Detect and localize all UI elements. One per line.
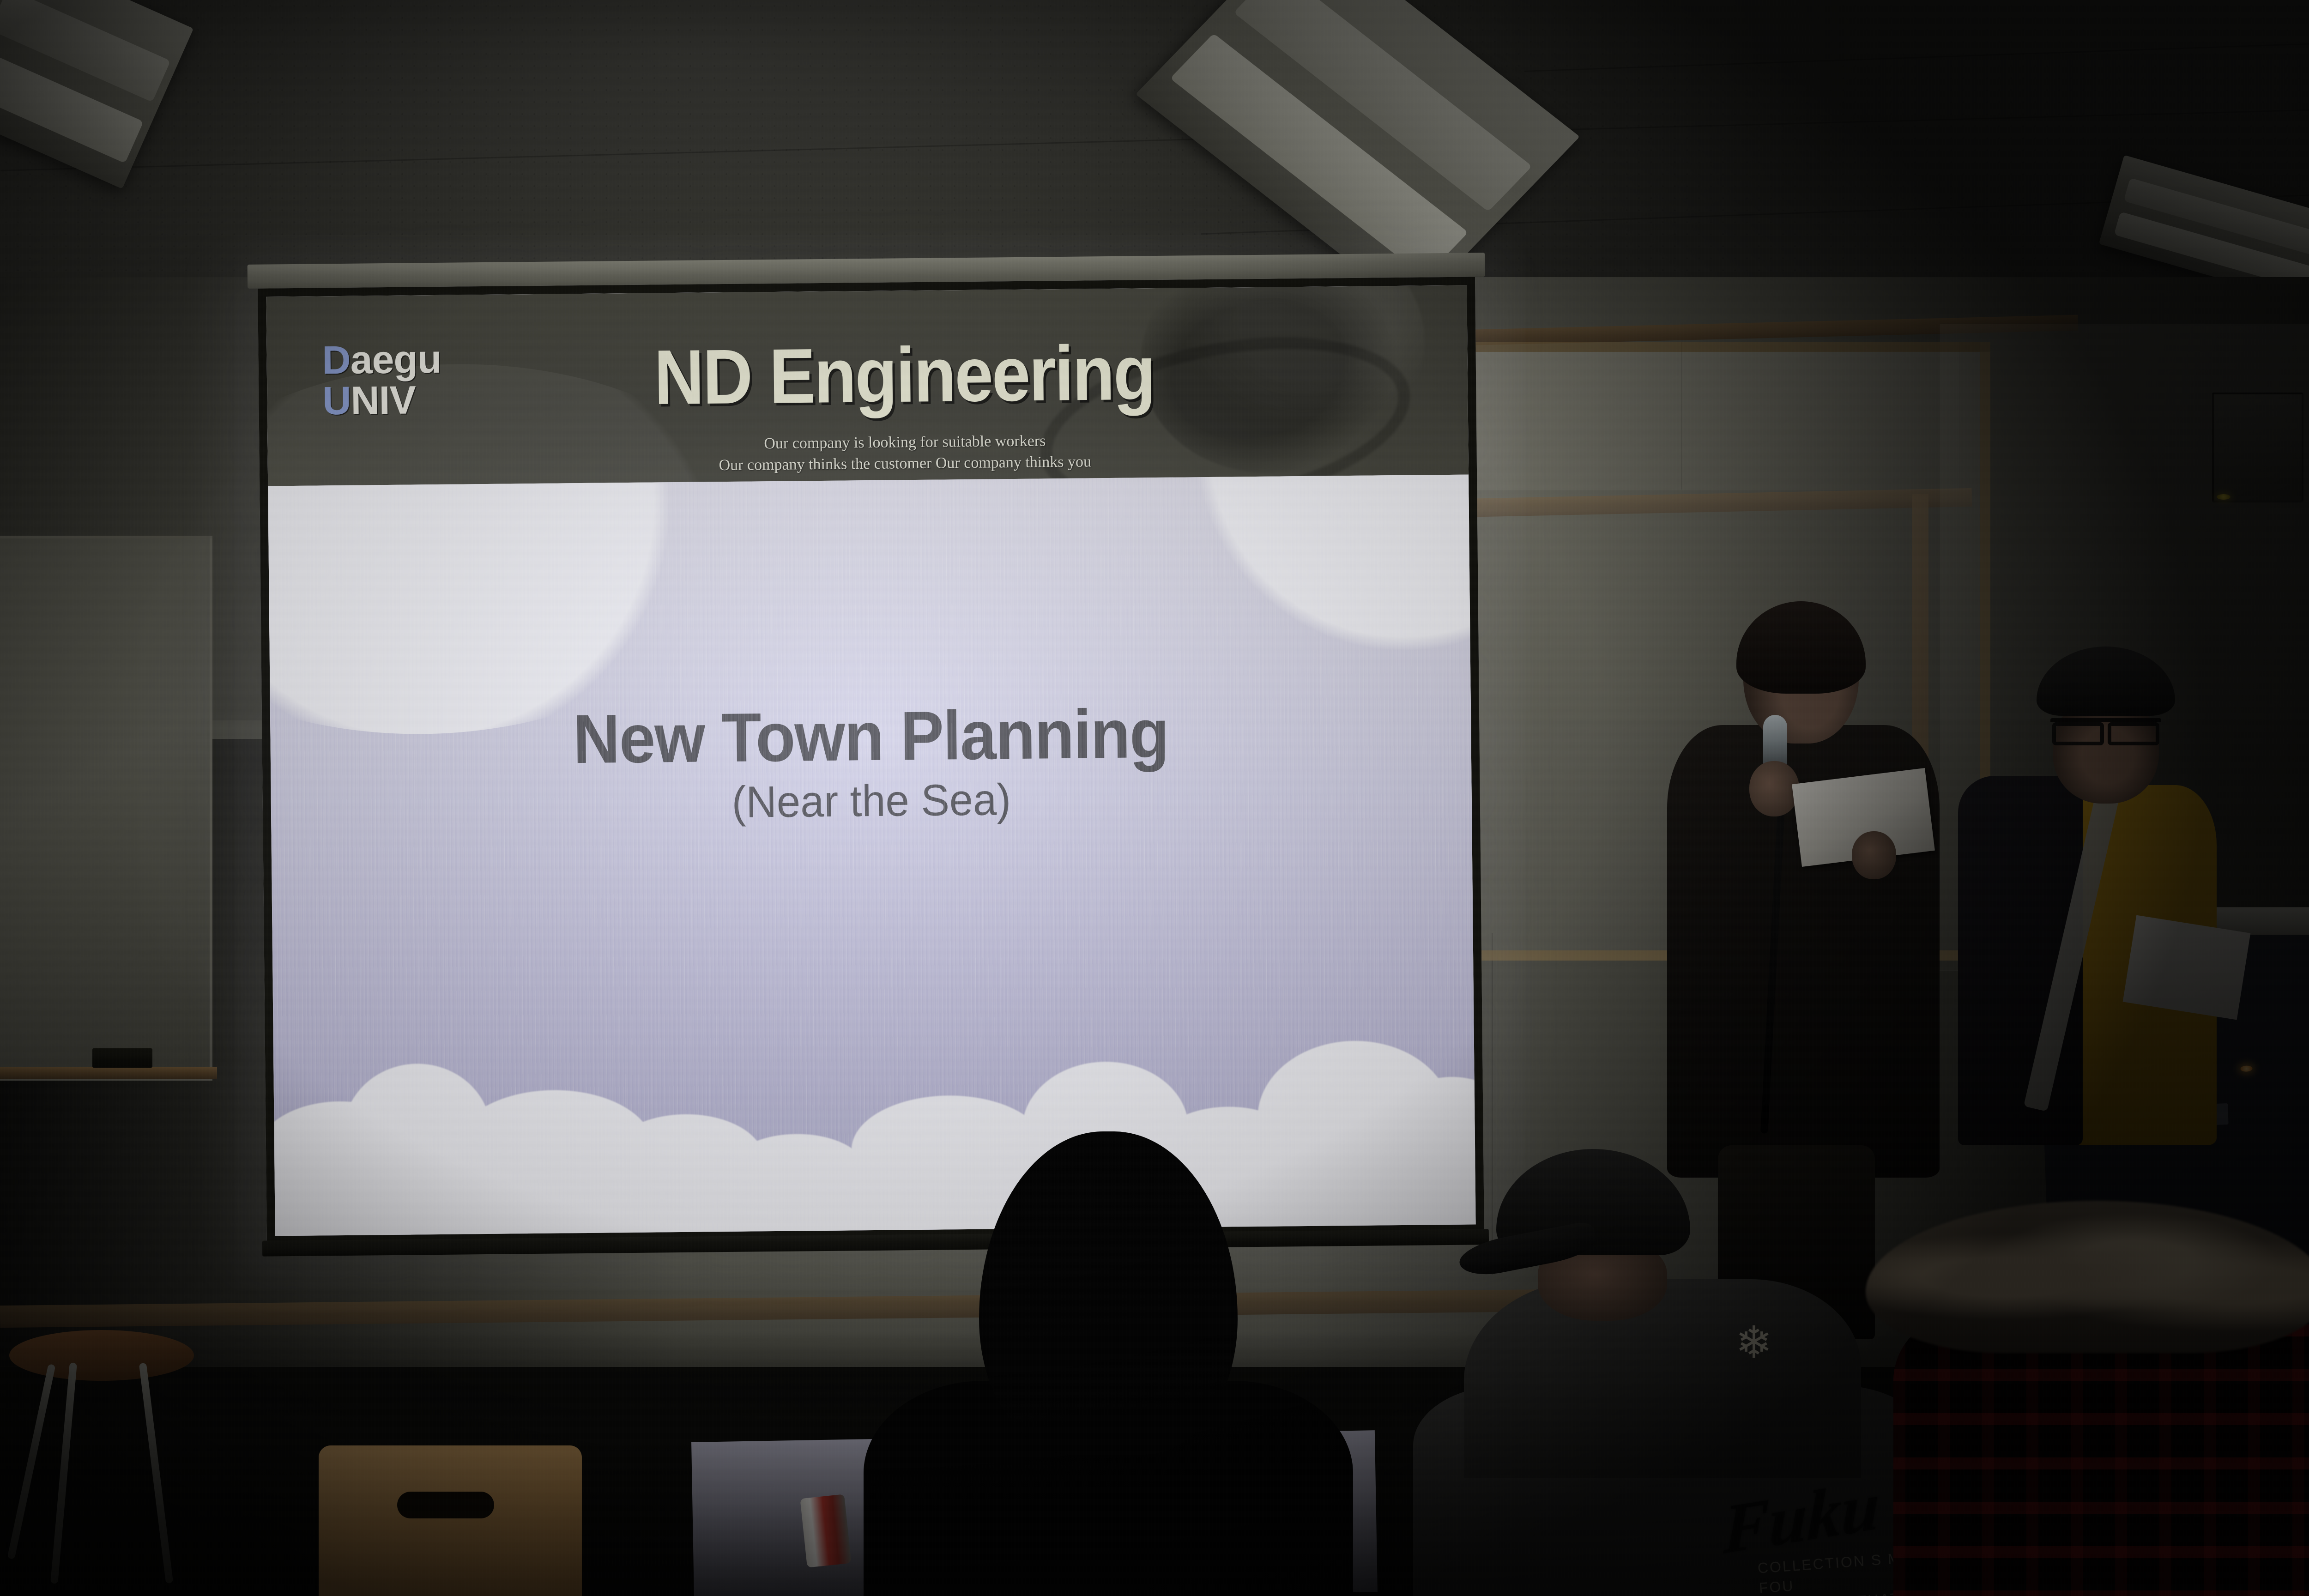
- screen-fabric-texture-fine: [268, 475, 1475, 1236]
- slide-body: New Town Planning (Near the Sea): [268, 475, 1475, 1236]
- audience-head: [979, 1131, 1238, 1455]
- wooden-stool: [9, 1330, 203, 1589]
- presenter-hair: [1736, 601, 1866, 694]
- hoodie-hood: [1464, 1279, 1861, 1478]
- speaker-status-led: [2217, 494, 2230, 500]
- chair-handle-slot: [397, 1492, 494, 1518]
- ceiling-tile-texture: [0, 0, 2309, 296]
- ceiling: [0, 0, 2309, 296]
- presentation-slide: Daegu UNIV ND Engineering Our company is…: [266, 285, 1475, 1236]
- audience-member-fur-hood: [1866, 1201, 2309, 1596]
- stool-leg: [7, 1364, 55, 1560]
- presenter-hand-holding-paper: [1852, 831, 1896, 879]
- baseball-cap: [2037, 647, 2175, 716]
- stool-leg: [50, 1362, 77, 1584]
- whiteboard-eraser: [92, 1048, 152, 1068]
- stool-leg: [139, 1363, 173, 1584]
- fur-hood-trim: [1866, 1201, 2309, 1353]
- marker-tray: [0, 1067, 217, 1079]
- projection-screen[interactable]: Daegu UNIV ND Engineering Our company is…: [258, 277, 1484, 1244]
- presenter-hand-holding-mic: [1749, 761, 1799, 816]
- snowflake-icon: ❄: [1732, 1321, 1776, 1365]
- wooden-chair: [319, 1445, 582, 1596]
- photo-scene: Daegu UNIV ND Engineering Our company is…: [0, 0, 2309, 1596]
- plaid-coat: [1893, 1316, 2309, 1596]
- stool-seat: [9, 1330, 194, 1381]
- chair-backrest: [319, 1445, 582, 1596]
- presenter2-paper: [2123, 915, 2251, 1020]
- presenter-yellow-hoodie: [1977, 647, 2235, 1201]
- company-brand-title: ND Engineering: [266, 325, 1468, 426]
- eyeglasses-icon: [2050, 718, 2161, 739]
- lectern-power-led: [2240, 1065, 2252, 1072]
- audience-member-front: [836, 1131, 1372, 1596]
- whiteboard-left: [0, 536, 212, 1081]
- wall-speaker: [2212, 393, 2303, 502]
- slide-header-band: Daegu UNIV ND Engineering Our company is…: [266, 285, 1469, 486]
